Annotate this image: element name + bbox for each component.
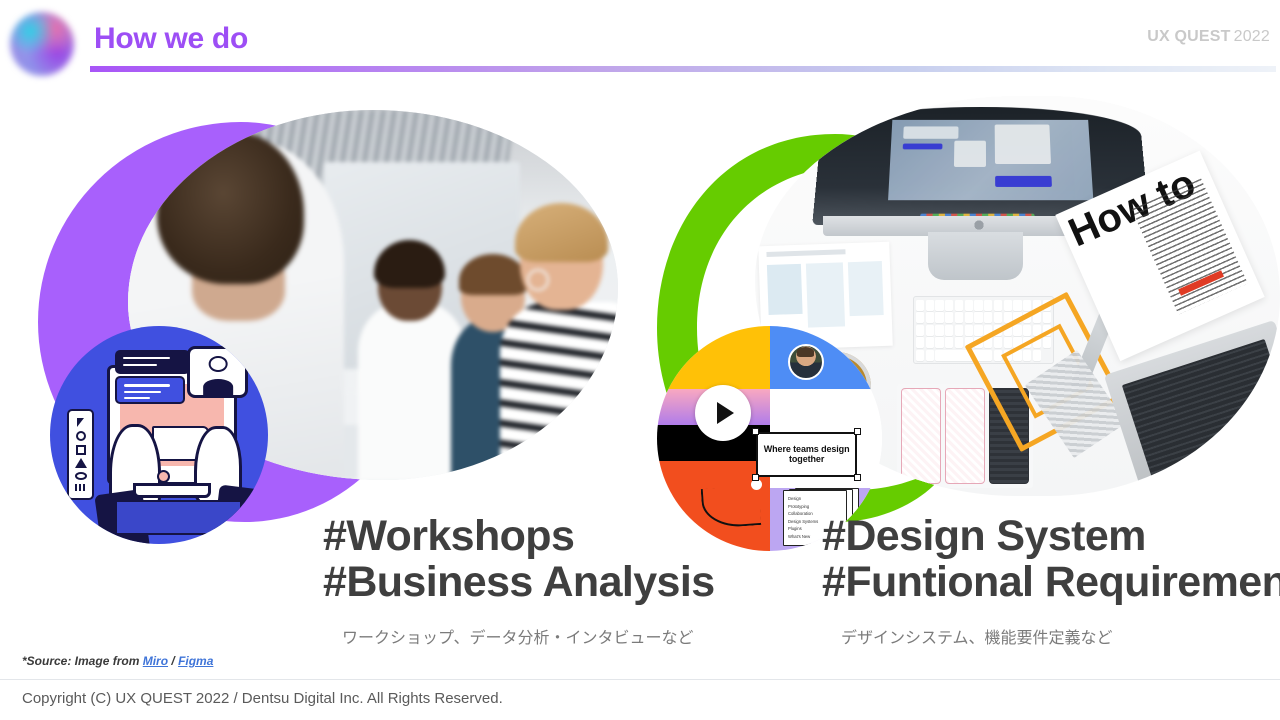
phone-mockup (945, 388, 985, 484)
resize-handle-icon[interactable] (752, 428, 759, 435)
laptop-keyboard (1122, 339, 1280, 496)
resize-handle-icon[interactable] (854, 474, 861, 481)
illustration-dark-card (115, 350, 189, 374)
resize-handle-icon[interactable] (752, 474, 759, 481)
subcaption-workshops: ワークショップ、データ分析・インタビューなど (342, 624, 694, 648)
menu-item[interactable]: Design (788, 497, 842, 501)
play-icon[interactable] (695, 385, 751, 441)
wireframe-block (848, 261, 884, 316)
oval-shape-icon (75, 472, 87, 480)
illustration-monitor-base (133, 483, 211, 498)
card-line (124, 397, 150, 400)
swatch-yellow (657, 326, 770, 389)
source-prefix: *Source: Image from (22, 654, 143, 668)
page-title: How we do (94, 22, 248, 56)
column-design-system: How to (645, 96, 1280, 656)
source-note: *Source: Image from Miro / Figma (22, 654, 213, 668)
source-link-miro[interactable]: Miro (143, 654, 168, 668)
keyboard-row (916, 300, 1051, 311)
illustration-blue-card (115, 376, 185, 404)
headline-design-system: #Design System #Funtional Requirement (822, 514, 1280, 605)
figma-selection-box: Where teams design together (756, 432, 857, 477)
deck-label-year: 2022 (1234, 28, 1270, 45)
card-line (123, 364, 157, 367)
triangle-shape-icon (75, 458, 87, 468)
circle-shape-icon (76, 431, 86, 441)
footer-divider (0, 679, 1280, 680)
photo-person-foreground-hair (157, 132, 304, 284)
subcaption-design-system: デザインシステム、機能要件定義など (841, 624, 1113, 648)
cursor-icon (77, 418, 84, 427)
imac-ui-panel (903, 126, 959, 138)
menu-item[interactable]: Prototyping (788, 505, 842, 509)
headline-line-2: #Funtional Requirement (822, 560, 1280, 606)
smile-doodle (698, 479, 775, 538)
resize-handle-icon[interactable] (854, 428, 861, 435)
swatch-blue (770, 326, 883, 389)
miro-collaboration-illustration (50, 326, 268, 544)
card-line (124, 391, 161, 394)
square-shape-icon (76, 445, 86, 455)
imac-stand (928, 232, 1023, 280)
source-separator: / (168, 654, 178, 668)
menu-bars-icon (75, 484, 87, 491)
column-workshops: #Workshops #Business Analysis ワークショップ、デー… (10, 96, 640, 656)
photo-person-d-body (500, 302, 618, 480)
card-line (124, 384, 170, 387)
design-system-artwork: How to (645, 96, 1280, 536)
imac-ui-table (994, 125, 1051, 164)
figma-tagline: Where teams design together (758, 444, 855, 465)
imac-screen (888, 120, 1094, 200)
avatar (788, 344, 824, 380)
footer-copyright: Copyright (C) UX QUEST 2022 / Dentsu Dig… (22, 690, 503, 707)
photo-person-d-hair (515, 203, 608, 262)
title-underline-rule (90, 66, 1276, 72)
deck-label-text: UX QUEST (1147, 28, 1230, 45)
imac-ui-list (954, 140, 986, 167)
illustration-avatar-card (187, 346, 248, 398)
illustration-toolbar (67, 409, 93, 501)
gradient-sphere-logo-icon (10, 12, 74, 76)
source-link-figma[interactable]: Figma (178, 654, 213, 668)
figma-selection-frame: Where teams design together (756, 432, 857, 477)
slide-header: How we do UX QUEST2022 (0, 0, 1280, 84)
imac-ui-footer (995, 175, 1052, 186)
card-line (123, 357, 170, 360)
workshops-artwork (10, 96, 640, 536)
illustration-monitor-dot (157, 470, 170, 483)
doodle-curve (701, 485, 762, 529)
imac-ui-button (902, 143, 942, 149)
phone-mockup (901, 388, 941, 484)
avatar-head-icon (208, 356, 227, 372)
headline-line-1: #Design System (822, 514, 1280, 560)
wireframe-block (767, 264, 803, 315)
apple-logo-icon (973, 217, 985, 230)
slide-canvas: How we do UX QUEST2022 (0, 0, 1280, 720)
illustration-desk-band (115, 500, 241, 535)
wireframe-header-bar (767, 250, 846, 258)
deck-label: UX QUEST2022 (1147, 28, 1270, 46)
photo-person-presenter-body (358, 302, 466, 480)
avatar-body-icon (203, 379, 233, 395)
wireframe-block (806, 262, 845, 328)
